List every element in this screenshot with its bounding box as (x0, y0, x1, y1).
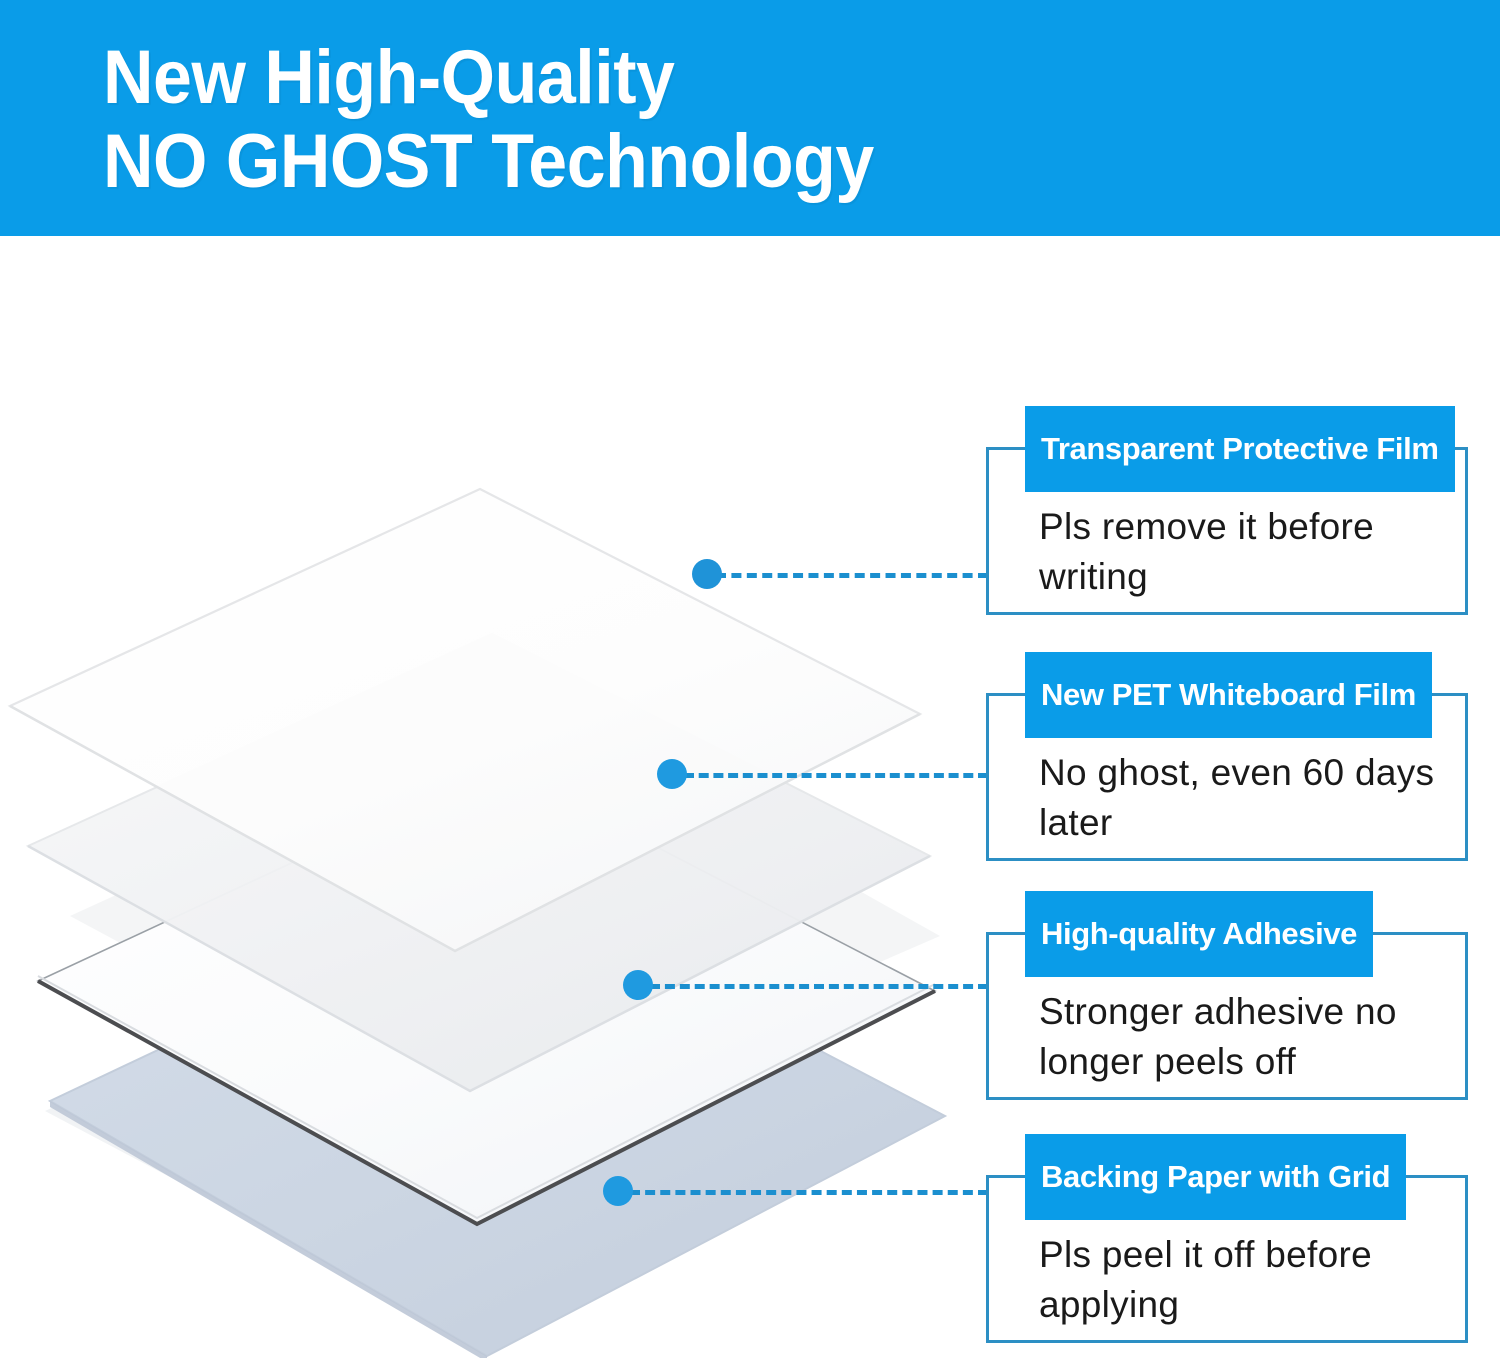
infographic-page: New High-Quality NO GHOST Technology (0, 0, 1500, 1358)
connector-dot-1 (692, 559, 722, 589)
callout-title-4: Backing Paper with Grid (1025, 1134, 1406, 1220)
header-banner-text: New High-Quality NO GHOST Technology (103, 36, 1353, 204)
callout-description-4: Pls peel it off before applying (1039, 1230, 1449, 1330)
callout-backing-paper-with-grid[interactable]: Backing Paper with Grid Pls peel it off … (986, 1175, 1468, 1343)
connector-dot-4 (603, 1176, 633, 1206)
connector-line-2 (684, 773, 988, 778)
connector-dot-3 (623, 970, 653, 1000)
callout-transparent-protective-film[interactable]: Transparent Protective Film Pls remove i… (986, 447, 1468, 615)
connector-line-1 (716, 573, 988, 578)
callout-title-3: High-quality Adhesive (1025, 891, 1373, 977)
callout-description-1: Pls remove it before writing (1039, 502, 1449, 602)
callout-description-2: No ghost, even 60 days later (1039, 748, 1449, 848)
connector-line-3 (650, 984, 988, 989)
callout-high-quality-adhesive[interactable]: High-quality Adhesive Stronger adhesive … (986, 932, 1468, 1100)
callout-title-1: Transparent Protective Film (1025, 406, 1455, 492)
header-title-line-2: NO GHOST Technology (103, 120, 1253, 204)
callout-title-2: New PET Whiteboard Film (1025, 652, 1432, 738)
callout-new-pet-whiteboard-film[interactable]: New PET Whiteboard Film No ghost, even 6… (986, 693, 1468, 861)
connector-line-4 (630, 1190, 988, 1195)
connector-dot-2 (657, 759, 687, 789)
header-title-line-1: New High-Quality (103, 36, 1253, 120)
callout-description-3: Stronger adhesive no longer peels off (1039, 987, 1449, 1087)
header-banner: New High-Quality NO GHOST Technology (0, 0, 1500, 236)
